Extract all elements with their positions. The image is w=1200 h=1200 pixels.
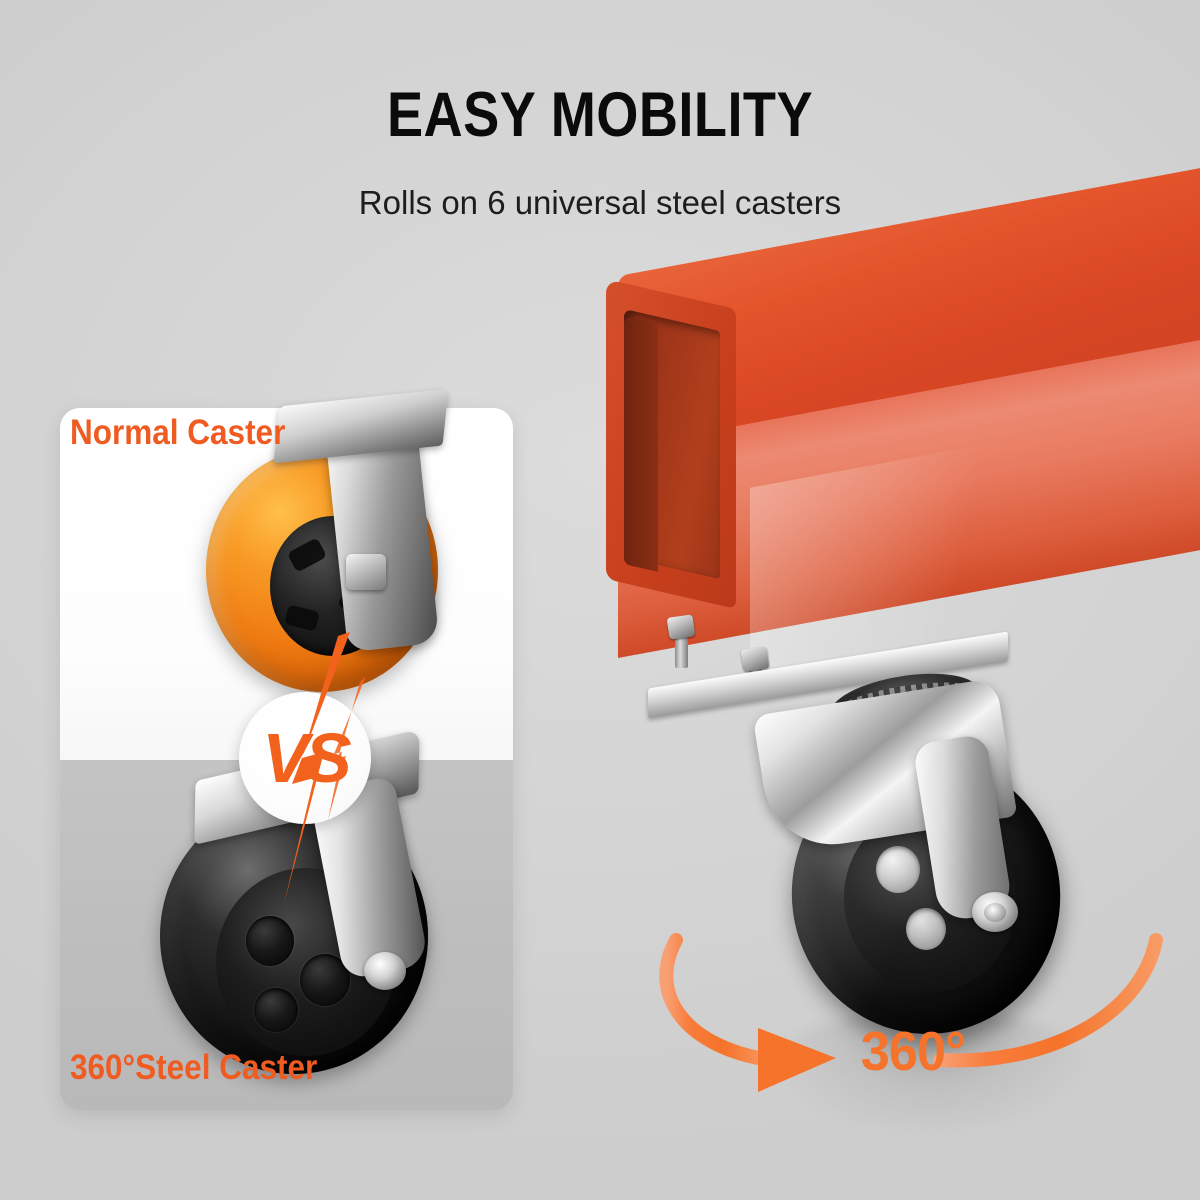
steel-caster-axle-bolt <box>364 952 406 990</box>
mounting-bolt-shaft <box>675 634 688 668</box>
lightning-bolt-icon <box>210 630 400 910</box>
normal-caster-fork-top <box>273 389 448 464</box>
rotation-degree-label: 360° <box>861 1024 965 1079</box>
steel-caster-label: 360°Steel Caster <box>70 1050 317 1085</box>
hex-bolt-icon <box>667 614 696 639</box>
wheel-spoke-hole <box>254 988 298 1032</box>
product-feature-banner: EASY MOBILITY Rolls on 6 universal steel… <box>0 0 1200 1200</box>
beam-inner-wall <box>624 316 658 572</box>
rotation-arrow-icon <box>640 900 1180 1130</box>
normal-caster-axle-nut <box>346 554 386 590</box>
normal-caster-label: Normal Caster <box>70 415 285 450</box>
steel-beam-illustration <box>600 250 1200 710</box>
wheel-spoke-hole <box>246 916 294 966</box>
page-title: EASY MOBILITY <box>84 84 1116 147</box>
